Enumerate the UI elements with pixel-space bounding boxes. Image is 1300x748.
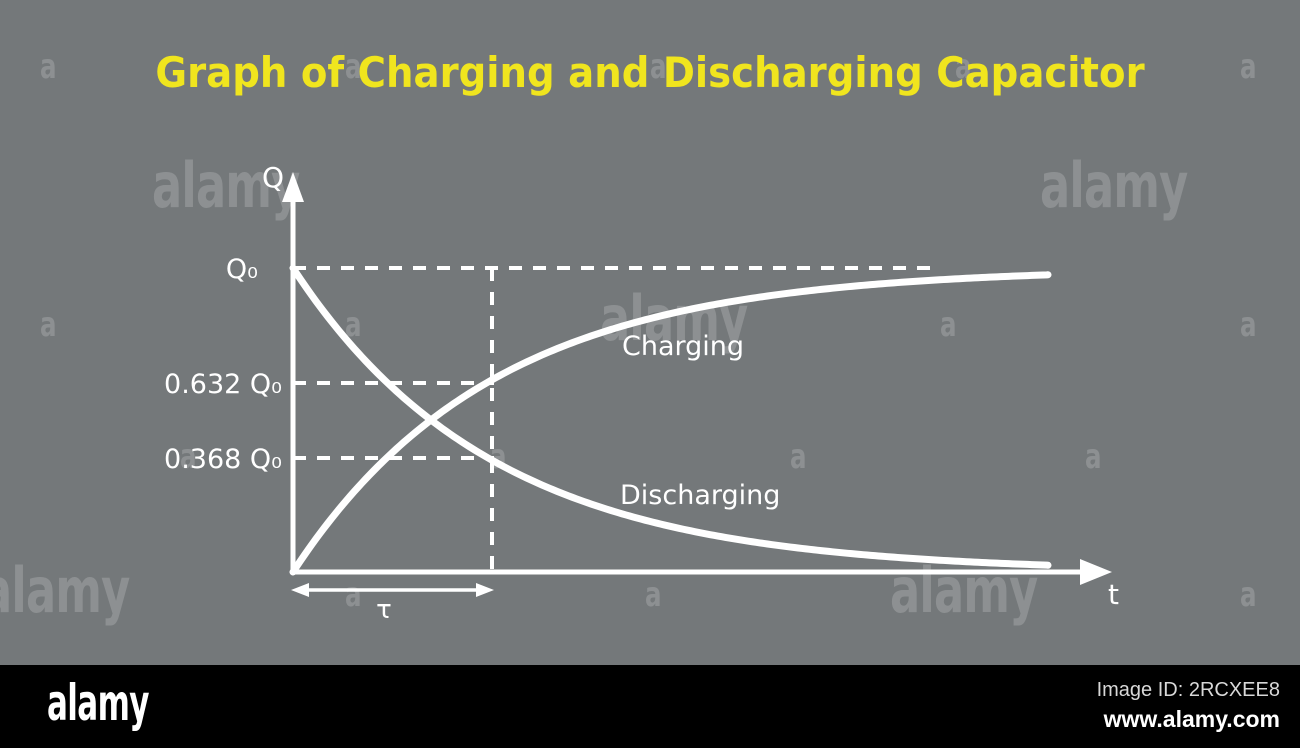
- y-axis-label: Q: [262, 161, 284, 194]
- screenshot-root: aaaaaalamyalamyaaalamyaaaaaaalamyaaalamy…: [0, 0, 1300, 748]
- alamy-footer-bar: alamy Image ID: 2RCXEE8 www.alamy.com: [0, 665, 1300, 748]
- reference-lines: [293, 268, 932, 572]
- tick-label-0632q0: 0.632 Q₀: [164, 369, 282, 400]
- charging-label: Charging: [622, 331, 744, 362]
- image-id-text: Image ID: 2RCXEE8: [1097, 679, 1280, 702]
- tau-label: τ: [376, 595, 392, 625]
- page-title: Graph of Charging and Discharging Capaci…: [52, 48, 1248, 97]
- discharging-label: Discharging: [620, 480, 780, 511]
- capacitor-charge-graph: Q t Q₀ 0.632 Q₀ 0.368 Q₀ Charging Discha…: [0, 0, 1300, 665]
- tick-label-q0: Q₀: [226, 254, 258, 285]
- tick-label-0368q0: 0.368 Q₀: [164, 444, 282, 475]
- y-axis: [282, 172, 304, 572]
- tau-measure-arrow: [291, 583, 494, 597]
- alamy-url-text: www.alamy.com: [1104, 706, 1280, 733]
- alamy-logo: alamy: [47, 678, 149, 728]
- x-axis-label: t: [1108, 578, 1119, 611]
